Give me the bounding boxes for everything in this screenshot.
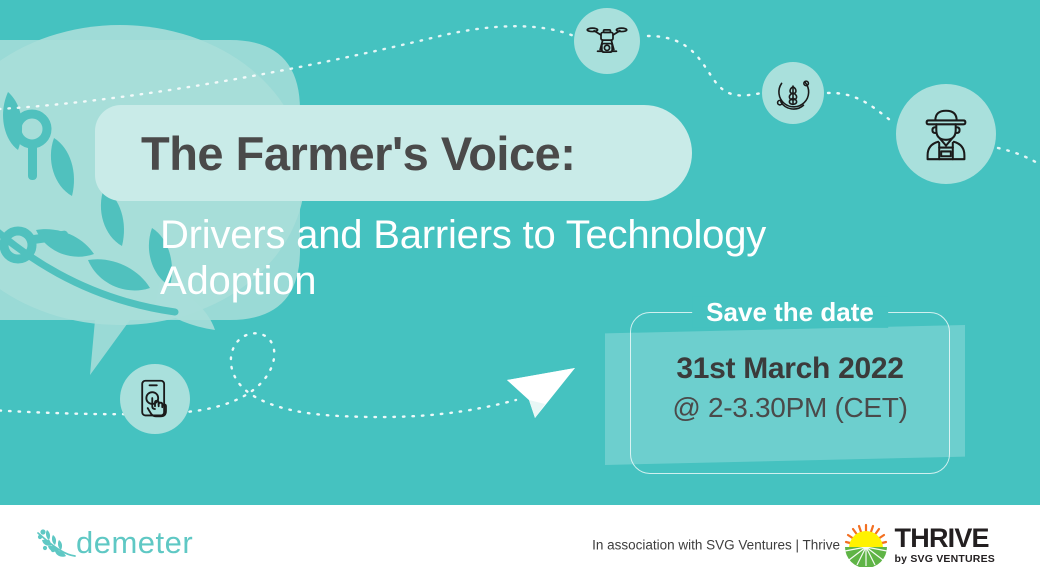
thrive-wordmark: THRIVE by SVG VENTURES — [895, 525, 995, 565]
webinar-announcement-banner: The Farmer's Voice: Drivers and Barriers… — [0, 0, 1040, 585]
smartphone-tap-icon — [120, 364, 190, 434]
sunburst-icon — [844, 523, 888, 567]
save-the-date-block: Save the date 31st March 2022 @ 2-3.30PM… — [605, 300, 990, 480]
farmer-icon — [896, 84, 996, 184]
paper-plane-icon — [505, 364, 577, 422]
demeter-wordmark: demeter — [76, 525, 193, 561]
wheat-orbit-icon — [762, 62, 824, 124]
thrive-name: THRIVE — [895, 525, 995, 552]
drone-icon — [574, 8, 640, 74]
title-pill: The Farmer's Voice: — [95, 105, 692, 201]
event-date: 31st March 2022 — [630, 352, 950, 386]
thrive-tagline: by SVG VENTURES — [895, 554, 995, 565]
footer-bar: demeter In association with SVG Ventures… — [0, 505, 1040, 585]
save-the-date-label: Save the date — [692, 297, 888, 328]
demeter-logo: demeter — [34, 523, 193, 563]
wheat-sprig-icon — [34, 523, 78, 563]
association-text: In association with SVG Ventures | Thriv… — [592, 538, 840, 553]
thrive-logo: THRIVE by SVG VENTURES — [844, 523, 995, 567]
dotted-path-wheat-farmer — [828, 93, 890, 120]
page-title: The Farmer's Voice: — [141, 130, 575, 177]
dotted-path-loop — [0, 333, 516, 417]
event-time: @ 2-3.30PM (CET) — [630, 392, 950, 424]
dotted-path-farmer-right — [998, 148, 1040, 166]
page-subtitle: Drivers and Barriers to Technology Adopt… — [160, 212, 920, 305]
dotted-path-drone-wheat — [648, 36, 762, 95]
